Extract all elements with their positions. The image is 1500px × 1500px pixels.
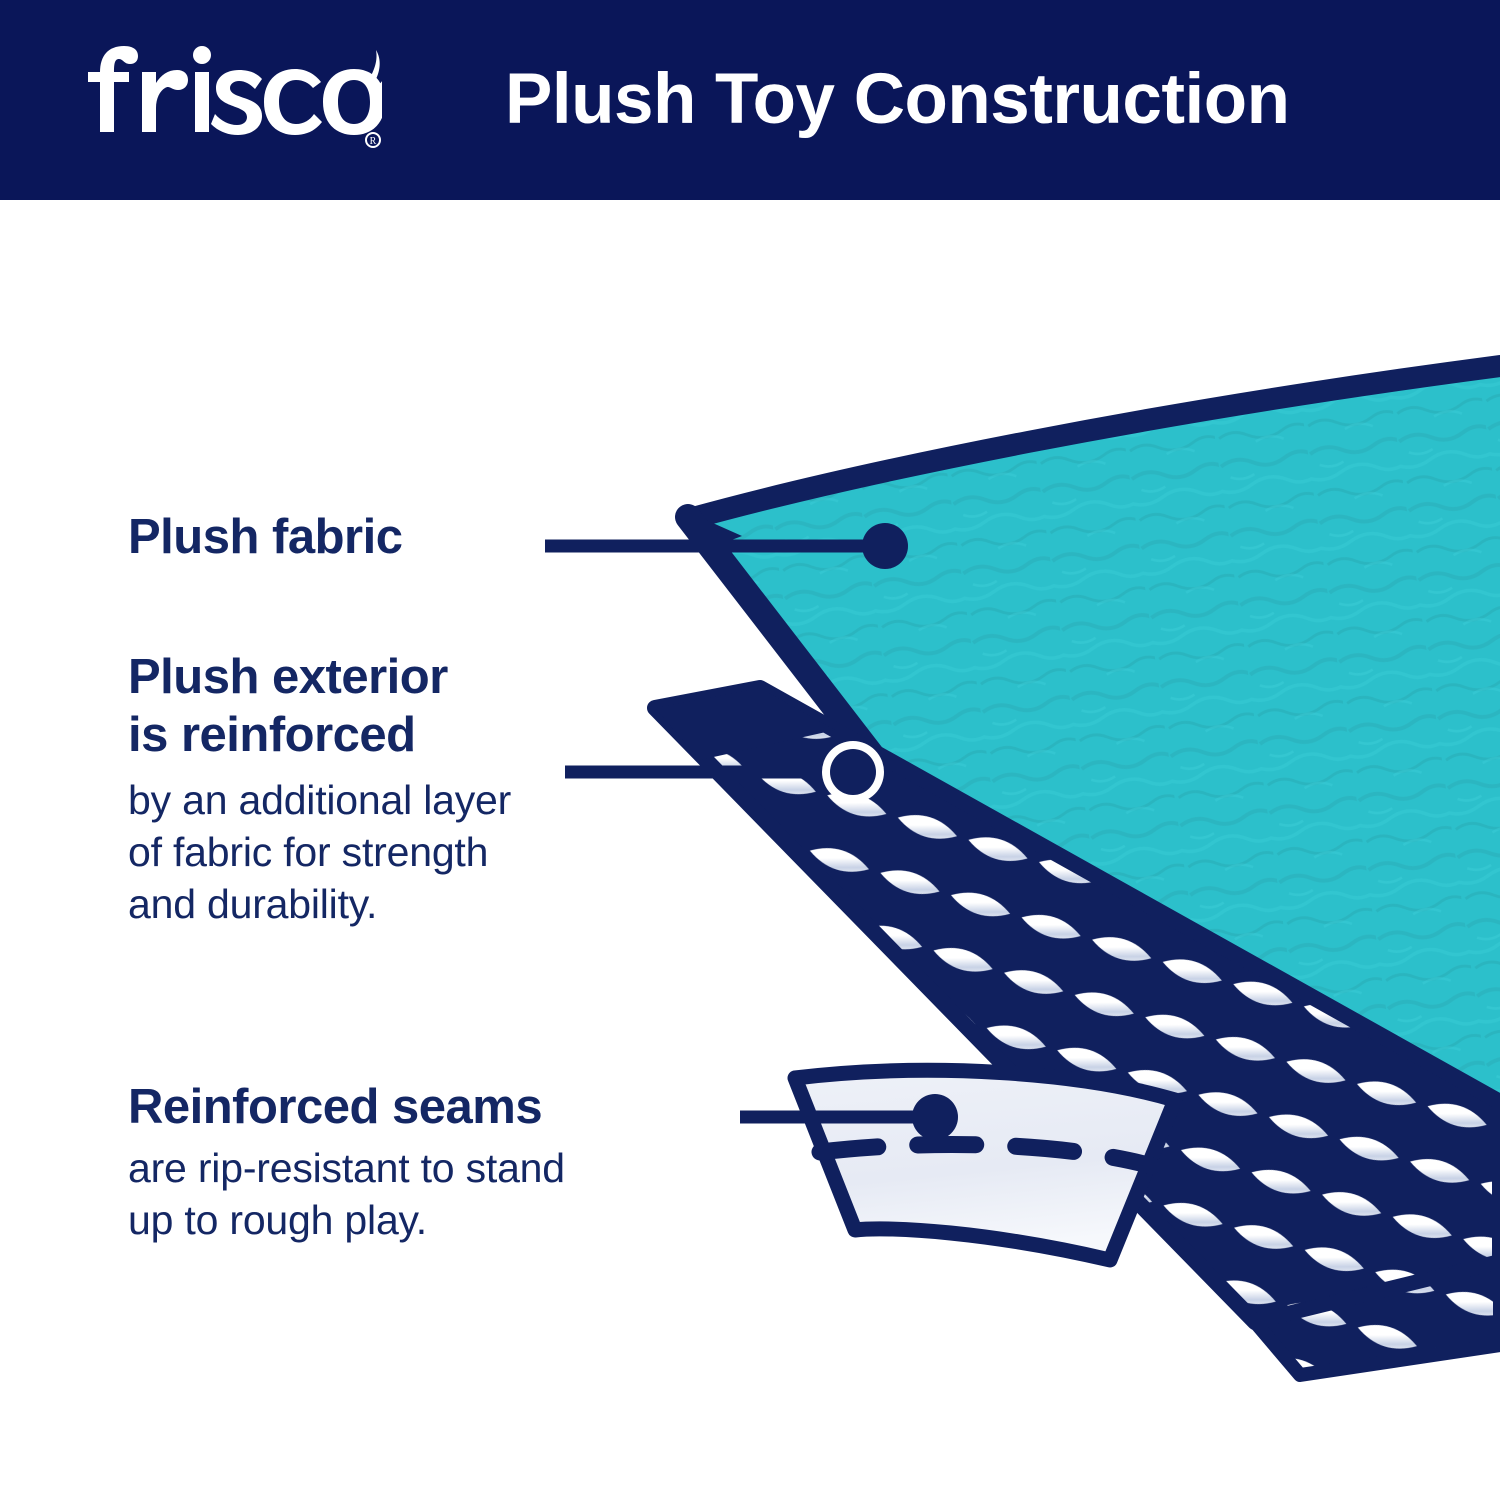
callout-heading: Plush fabric (128, 508, 598, 566)
leader-dot-plush-exterior (830, 749, 876, 795)
frisco-logo: R (82, 36, 382, 156)
callout-body: by an additional layer of fabric for str… (128, 774, 728, 930)
callout-body: are rip-resistant to stand up to rough p… (128, 1142, 808, 1246)
svg-text:R: R (370, 136, 377, 147)
header-bar: R Plush Toy Construction (0, 0, 1500, 200)
callout-heading: Reinforced seams (128, 1078, 808, 1136)
page-title: Plush Toy Construction (505, 50, 1405, 150)
callout-reinforced-seams: Reinforced seams are rip-resistant to st… (128, 1078, 808, 1246)
leader-dot-plush-fabric (862, 523, 908, 569)
callout-heading: Plush exterior is reinforced (128, 648, 728, 764)
callout-plush-fabric: Plush fabric (128, 508, 598, 566)
reinforced-seam-flap (795, 1070, 1175, 1260)
leader-dot-reinforced-seams (912, 1094, 958, 1140)
infographic-page: R Plush Toy Construction (0, 0, 1500, 1500)
callout-plush-exterior-reinforced: Plush exterior is reinforced by an addit… (128, 648, 728, 930)
